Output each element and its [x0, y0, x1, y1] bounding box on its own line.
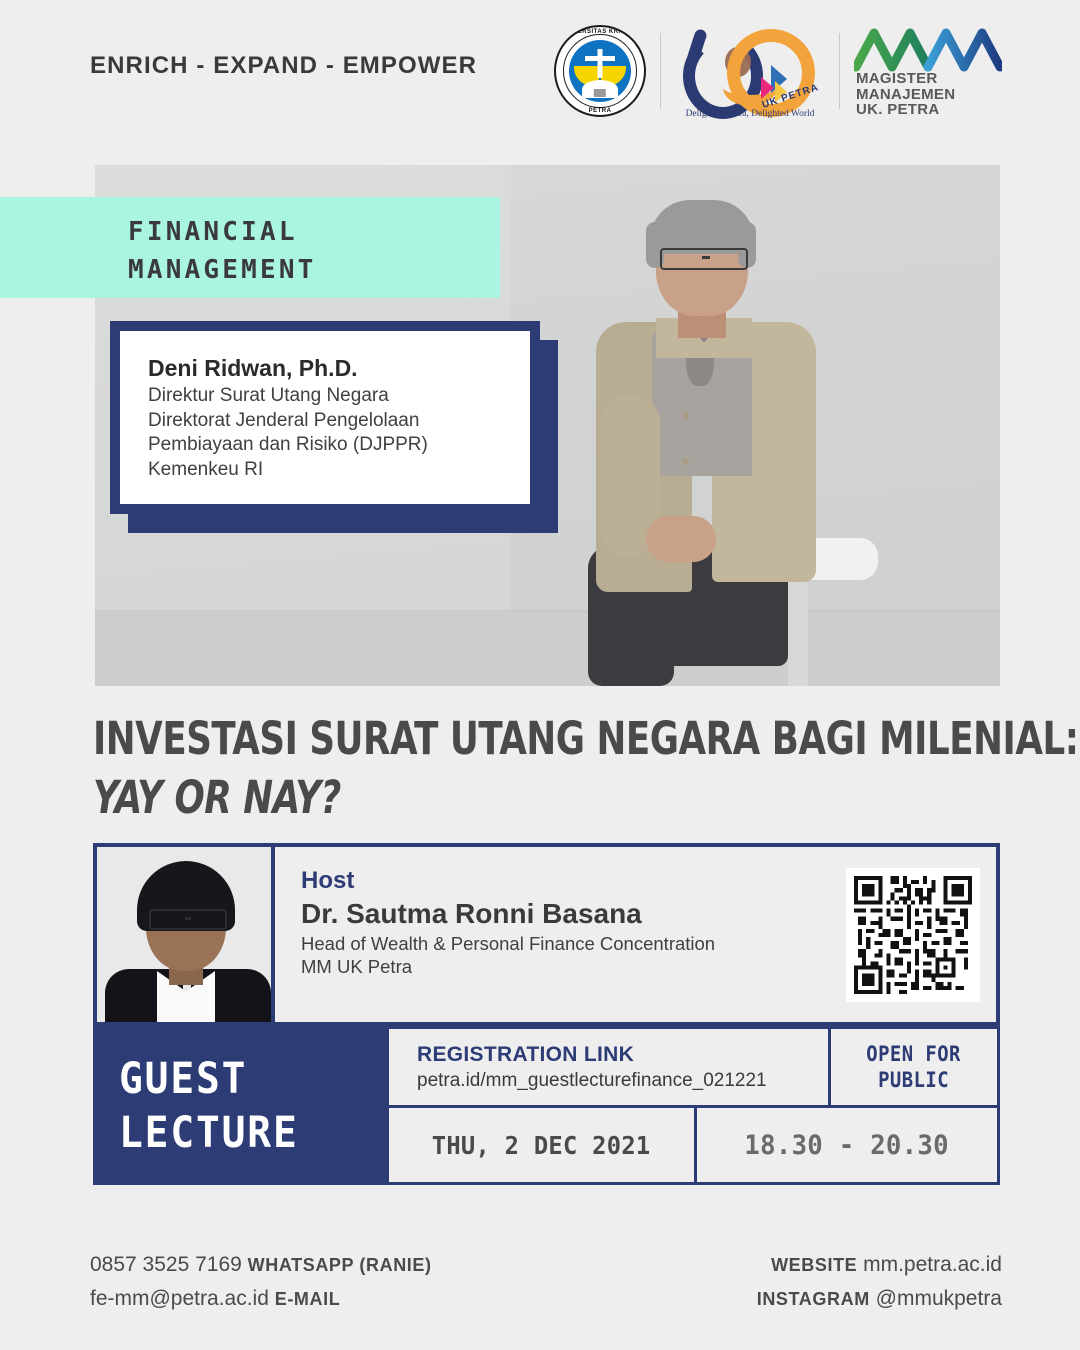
- footer-website: WEBSITE mm.petra.ac.id: [757, 1248, 1002, 1282]
- speaker-role: Direktur Surat Utang Negara Direktorat J…: [148, 384, 502, 482]
- event-type-block: GUEST LECTURE: [93, 1026, 386, 1185]
- whatsapp-label: WHATSAPP (RANIE): [248, 1255, 432, 1275]
- title-line-1: INVESTASI SURAT UTANG NEGARA BAGI MILENI…: [93, 712, 920, 765]
- speaker-name: Deni Ridwan, Ph.D.: [148, 355, 502, 382]
- program-banner: FINANCIAL MANAGEMENT: [0, 197, 500, 298]
- mmm-line-3: UK. PETRA: [856, 102, 955, 118]
- registration-cell[interactable]: REGISTRATION LINK petra.id/mm_guestlectu…: [386, 1026, 831, 1108]
- host-info: Host Dr. Sautma Ronni Basana Head of Wea…: [275, 847, 830, 1022]
- email-address: fe-mm@petra.ac.id: [90, 1287, 269, 1310]
- host-name: Dr. Sautma Ronni Basana: [301, 897, 830, 931]
- event-grid-row-2: THU, 2 DEC 2021 18.30 - 20.30: [386, 1108, 1000, 1185]
- website-label: WEBSITE: [771, 1255, 857, 1275]
- magister-manajemen-logo: MAGISTER MANAJEMEN UK. PETRA: [854, 25, 1002, 117]
- host-label: Host: [301, 867, 830, 895]
- event-type-line-2: LECTURE: [119, 1106, 365, 1160]
- event-type-line-1: GUEST: [119, 1052, 365, 1106]
- page-title: INVESTASI SURAT UTANG NEGARA BAGI MILENI…: [93, 712, 1033, 824]
- footer-right: WEBSITE mm.petra.ac.id INSTAGRAM @mmukpe…: [757, 1248, 1002, 1316]
- seal-top-text: UNIVERSITAS KRISTEN: [556, 29, 644, 35]
- open-for-public-label: OPEN FOR PUBLIC: [867, 1041, 962, 1093]
- host-photo: [97, 847, 275, 1022]
- program-label: FINANCIAL MANAGEMENT: [128, 213, 317, 289]
- event-date: THU, 2 DEC 2021: [432, 1131, 651, 1160]
- speaker-card: Deni Ridwan, Ph.D. Direktur Surat Utang …: [110, 321, 540, 514]
- instagram-label: INSTAGRAM: [757, 1289, 870, 1309]
- email-label: E-MAIL: [275, 1289, 341, 1309]
- logo-row: UNIVERSITAS KRISTEN PETRA UK PETRA Delig…: [554, 22, 1002, 120]
- logo-divider-2: [839, 33, 840, 109]
- logo-divider-1: [660, 33, 661, 109]
- qr-code-icon[interactable]: [846, 868, 980, 1002]
- registration-label: REGISTRATION LINK: [417, 1043, 828, 1067]
- poster-canvas: ENRICH - EXPAND - EMPOWER UNIVERSITAS KR…: [0, 0, 1080, 1350]
- speaker-portrait-figure: [560, 186, 890, 686]
- event-time: 18.30 - 20.30: [745, 1130, 949, 1161]
- mmm-line-2: MANAJEMEN: [856, 87, 955, 103]
- event-date-cell: THU, 2 DEC 2021: [386, 1105, 697, 1185]
- event-time-cell: 18.30 - 20.30: [694, 1105, 1000, 1185]
- seal-bottom-text: PETRA: [556, 108, 644, 114]
- footer-left: 0857 3525 7169 WHATSAPP (RANIE) fe-mm@pe…: [90, 1248, 432, 1316]
- footer-whatsapp: 0857 3525 7169 WHATSAPP (RANIE): [90, 1248, 432, 1282]
- title-line-2: YAY OR NAY?: [93, 771, 920, 824]
- instagram-value: @mmukpetra: [876, 1287, 1002, 1310]
- host-card: Host Dr. Sautma Ronni Basana Head of Wea…: [93, 843, 1000, 1026]
- mmm-wave-icon: [854, 27, 1002, 73]
- open-for-public-cell: OPEN FOR PUBLIC: [828, 1026, 1000, 1108]
- event-grid-row-1: REGISTRATION LINK petra.id/mm_guestlectu…: [386, 1026, 1000, 1108]
- website-value: mm.petra.ac.id: [863, 1253, 1002, 1276]
- mmm-line-1: MAGISTER: [856, 71, 955, 87]
- footer-instagram: INSTAGRAM @mmukpetra: [757, 1282, 1002, 1316]
- universitas-kristen-petra-seal-icon: UNIVERSITAS KRISTEN PETRA: [554, 25, 646, 117]
- tagline: ENRICH - EXPAND - EMPOWER: [90, 52, 477, 80]
- host-subtitle: Head of Wealth & Personal Finance Concen…: [301, 932, 830, 978]
- qr-code-wrapper[interactable]: [830, 847, 996, 1022]
- registration-link[interactable]: petra.id/mm_guestlecturefinance_021221: [417, 1070, 828, 1092]
- footer-email: fe-mm@petra.ac.id E-MAIL: [90, 1282, 432, 1316]
- anniversary-60-icon: UK PETRA Delightful Petra, Delighted Wor…: [675, 25, 825, 117]
- anniversary-slogan: Delightful Petra, Delighted World: [675, 109, 825, 119]
- event-details-panel: GUEST LECTURE REGISTRATION LINK petra.id…: [93, 1026, 1000, 1185]
- event-grid: REGISTRATION LINK petra.id/mm_guestlectu…: [386, 1026, 1000, 1185]
- whatsapp-number: 0857 3525 7169: [90, 1253, 242, 1276]
